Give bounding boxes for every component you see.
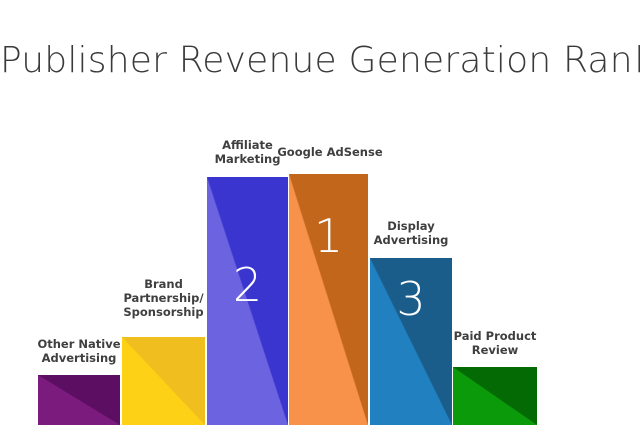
bar-shade-triangle — [207, 177, 288, 425]
bar-shade-triangle — [122, 337, 205, 425]
bar-label-line: Other Native — [26, 337, 132, 351]
bar-shade-triangle — [289, 174, 368, 425]
bar-label-line: Partnership/ — [110, 291, 217, 305]
bar-label-line: Review — [442, 343, 548, 357]
bar-label-brand-partnership-sponsorship: Brand Partnership/ Sponsorship — [110, 277, 217, 319]
chart-canvas: Publisher Revenue Generation Ranking Oth… — [0, 0, 640, 431]
bar-label-line: Paid Product — [442, 329, 548, 343]
bar-other-native-advertising[interactable] — [38, 375, 120, 425]
bar-label-google-adsense: Google AdSense — [275, 145, 385, 159]
bar-label-display-advertising: Display Advertising — [358, 219, 464, 247]
bar-display-advertising[interactable]: 3 — [370, 258, 452, 425]
bar-label-other-native-advertising: Other Native Advertising — [26, 337, 132, 365]
bar-label-line: Display — [358, 219, 464, 233]
bar-label-paid-product-review: Paid Product Review — [442, 329, 548, 357]
bar-brand-partnership-sponsorship[interactable] — [122, 337, 205, 425]
bar-paid-product-review[interactable] — [453, 367, 537, 425]
bar-google-adsense[interactable]: 1 — [289, 174, 368, 425]
bar-shade-triangle — [38, 375, 120, 425]
bar-shade-triangle — [453, 367, 537, 425]
bar-shade-triangle — [370, 258, 452, 425]
bar-label-line: Advertising — [26, 351, 132, 365]
bar-label-line: Brand — [110, 277, 217, 291]
bar-affiliate-marketing[interactable]: 2 — [207, 177, 288, 425]
bar-label-line: Advertising — [358, 233, 464, 247]
bar-label-line: Sponsorship — [110, 305, 217, 319]
bars-layer: Other Native Advertising Brand Partnersh… — [0, 0, 640, 431]
bar-label-line: Google AdSense — [275, 145, 385, 159]
